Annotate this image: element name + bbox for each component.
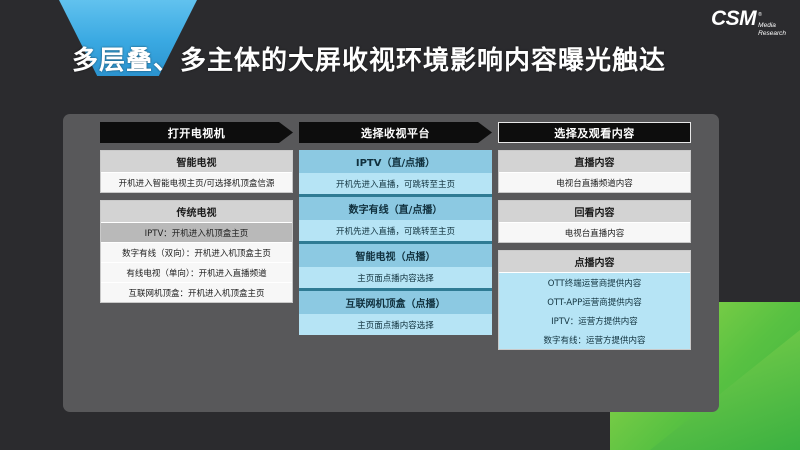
diagram-block-row[interactable]: OTT-APP运营商提供内容 [499,292,690,311]
diagram-block-row[interactable]: 数字有线（双向）：开机进入机顶盒主页 [101,243,292,263]
diagram-block-title: 直播内容 [499,151,690,173]
csm-logo: CSM ® Media Research [711,8,786,39]
diagram-block-row[interactable]: 电视台直播内容 [499,223,690,242]
diagram-block-row[interactable]: 电视台直播频道内容 [499,173,690,192]
diagram-column-body: 直播内容电视台直播频道内容回看内容电视台直播内容点播内容OTT终端运营商提供内容… [498,150,691,357]
diagram-block[interactable]: IPTV（直/点播）开机先进入直播，可跳转至主页 [299,150,492,197]
logo-tagline-line1: Media [758,22,776,29]
diagram-block-title: 智能电视 [101,151,292,173]
diagram-block-row[interactable]: 开机先进入直播，可跳转至主页 [299,220,492,241]
stage-header-1[interactable]: 打开电视机 [100,122,293,143]
stage-header-3[interactable]: 选择及观看内容 [498,122,691,143]
diagram-block-title: 点播内容 [499,251,690,273]
diagram-block-row[interactable]: 开机先进入直播，可跳转至主页 [299,173,492,194]
diagram-block-row[interactable]: 开机进入智能电视主页/可选择机顶盒信源 [101,173,292,192]
diagram-column-choose-platform: 选择收视平台IPTV（直/点播）开机先进入直播，可跳转至主页数字有线（直/点播）… [299,122,492,357]
slide-canvas: CSM ® Media Research 多层叠、多主体的大屏收视环境影响内容曝… [0,0,800,450]
diagram-block-row[interactable]: IPTV：运营方提供内容 [499,311,690,330]
diagram-block-row[interactable]: IPTV：开机进入机顶盒主页 [101,223,292,243]
diagram-block[interactable]: 智能电视（点播）主页面点播内容选择 [299,244,492,291]
diagram-block-row[interactable]: 数字有线：运营方提供内容 [499,330,690,349]
diagram-block-title: 传统电视 [101,201,292,223]
diagram-column-body: 智能电视开机进入智能电视主页/可选择机顶盒信源传统电视IPTV：开机进入机顶盒主… [100,150,293,310]
diagram-block-row[interactable]: 主页面点播内容选择 [299,267,492,288]
diagram-block[interactable]: 直播内容电视台直播频道内容 [498,150,691,193]
diagram-column-open-tv: 打开电视机智能电视开机进入智能电视主页/可选择机顶盒信源传统电视IPTV：开机进… [100,122,293,357]
diagram-column-choose-and-watch: 选择及观看内容直播内容电视台直播频道内容回看内容电视台直播内容点播内容OTT终端… [498,122,691,357]
diagram-block-title: 互联网机顶盒（点播） [299,291,492,314]
diagram-block[interactable]: 点播内容OTT终端运营商提供内容OTT-APP运营商提供内容IPTV：运营方提供… [498,250,691,350]
diagram-block[interactable]: 数字有线（直/点播）开机先进入直播，可跳转至主页 [299,197,492,244]
diagram-block[interactable]: 传统电视IPTV：开机进入机顶盒主页数字有线（双向）：开机进入机顶盒主页有线电视… [100,200,293,303]
diagram-block[interactable]: 回看内容电视台直播内容 [498,200,691,243]
stage-header-2[interactable]: 选择收视平台 [299,122,492,143]
diagram-block-row[interactable]: 有线电视（单向）：开机进入直播频道 [101,263,292,283]
diagram-block-row[interactable]: 主页面点播内容选择 [299,314,492,335]
diagram-block-title: IPTV（直/点播） [299,150,492,173]
diagram-block-title: 智能电视（点播） [299,244,492,267]
diagram-column-body: IPTV（直/点播）开机先进入直播，可跳转至主页数字有线（直/点播）开机先进入直… [299,150,492,335]
diagram-block-row[interactable]: 互联网机顶盒：开机进入机顶盒主页 [101,283,292,302]
diagram-block-row[interactable]: OTT终端运营商提供内容 [499,273,690,292]
diagram-block[interactable]: 智能电视开机进入智能电视主页/可选择机顶盒信源 [100,150,293,193]
logo-tagline: ® Media Research [758,8,786,39]
registered-mark-icon: ® [758,12,762,18]
diagram-block[interactable]: 互联网机顶盒（点播）主页面点播内容选择 [299,291,492,335]
logo-tagline-line2: Research [758,30,786,37]
three-stage-diagram: 打开电视机智能电视开机进入智能电视主页/可选择机顶盒信源传统电视IPTV：开机进… [100,122,692,357]
diagram-panel: 打开电视机智能电视开机进入智能电视主页/可选择机顶盒信源传统电视IPTV：开机进… [63,114,719,412]
diagram-block-title: 回看内容 [499,201,690,223]
diagram-block-title: 数字有线（直/点播） [299,197,492,220]
page-title: 多层叠、多主体的大屏收视环境影响内容曝光触达 [72,40,666,77]
logo-wordmark: CSM [711,8,756,29]
